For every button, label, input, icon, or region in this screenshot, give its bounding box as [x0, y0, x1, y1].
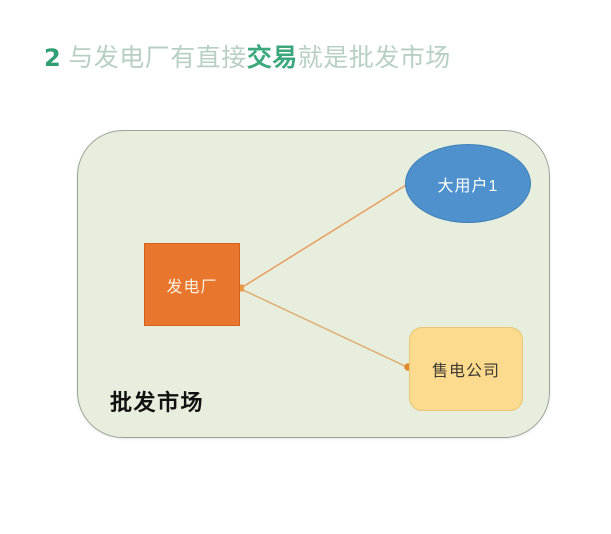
node-large-user-1[interactable]: 大用户1 [405, 144, 531, 223]
node-power-plant-label: 发电厂 [166, 273, 217, 297]
node-electricity-retailer-label: 售电公司 [432, 357, 500, 381]
title-text-after: 就是批发市场 [298, 44, 451, 72]
title-index-number: 2 [44, 44, 61, 72]
node-power-plant[interactable]: 发电厂 [144, 243, 240, 326]
wholesale-market-label: 批发市场 [110, 385, 204, 417]
title-text-before: 与发电厂有直接 [68, 44, 247, 72]
title-text-accent: 交易 [247, 44, 298, 72]
page-title: 2与发电厂有直接交易就是批发市场 [44, 42, 451, 74]
node-electricity-retailer[interactable]: 售电公司 [409, 327, 523, 411]
node-large-user-1-label: 大用户1 [438, 172, 499, 196]
